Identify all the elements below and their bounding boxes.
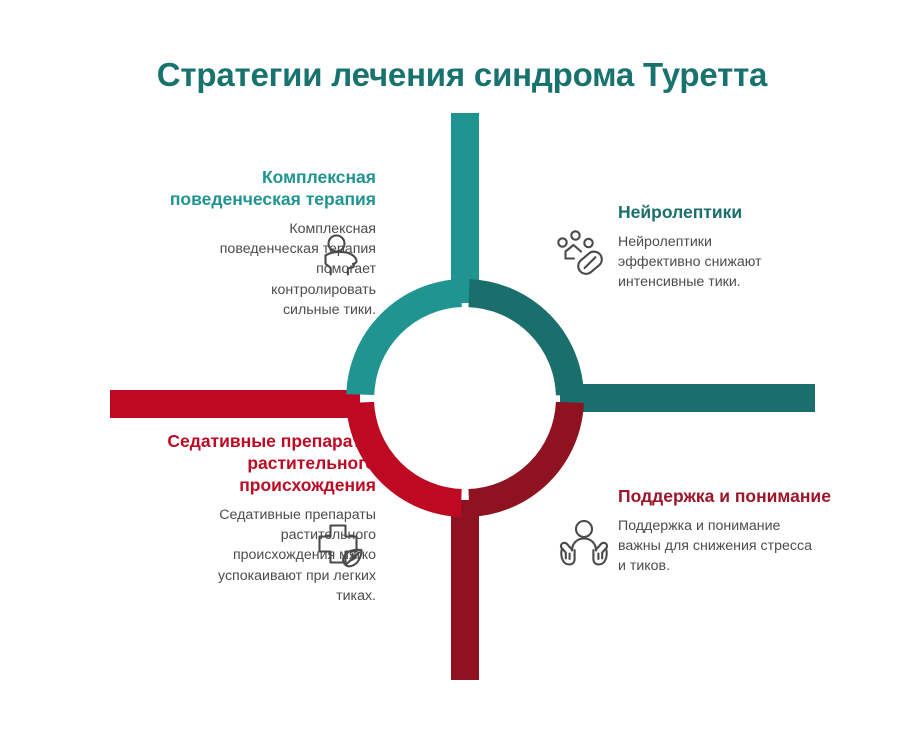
quadrant-support-title: Поддержка и понимание [618,485,873,507]
pills-icon [552,226,608,282]
quadrant-neuroleptics: Нейролептики Нейролептики эффективно сни… [618,201,868,293]
ring-arc-top-right [469,293,570,395]
connector-top-stem [451,113,479,303]
quadrant-cbt-title: Комплексная поведенческая терапия [148,166,376,210]
ring-arc-bottom-right [469,402,570,503]
person-raised-hands-icon [556,516,612,572]
connector-right-arm [560,384,815,412]
quadrant-neuroleptics-body: Нейролептики эффективно снижают интенсив… [618,232,770,292]
head-thought-icon [312,228,368,284]
page-title: Стратегии лечения синдрома Туретта [0,56,924,94]
quadrant-neuroleptics-title: Нейролептики [618,201,868,223]
quadrant-support: Поддержка и понимание Поддержка и понима… [618,485,873,577]
quadrant-ring-diagram [0,0,924,732]
quadrant-herbal-sedatives-title: Седативные препараты растительного проис… [128,430,376,496]
medical-cross-leaf-icon [312,518,368,574]
quadrant-support-body: Поддержка и понимание важны для снижения… [618,516,818,576]
connector-left-arm [110,390,360,418]
connector-bottom-stem [451,500,479,680]
